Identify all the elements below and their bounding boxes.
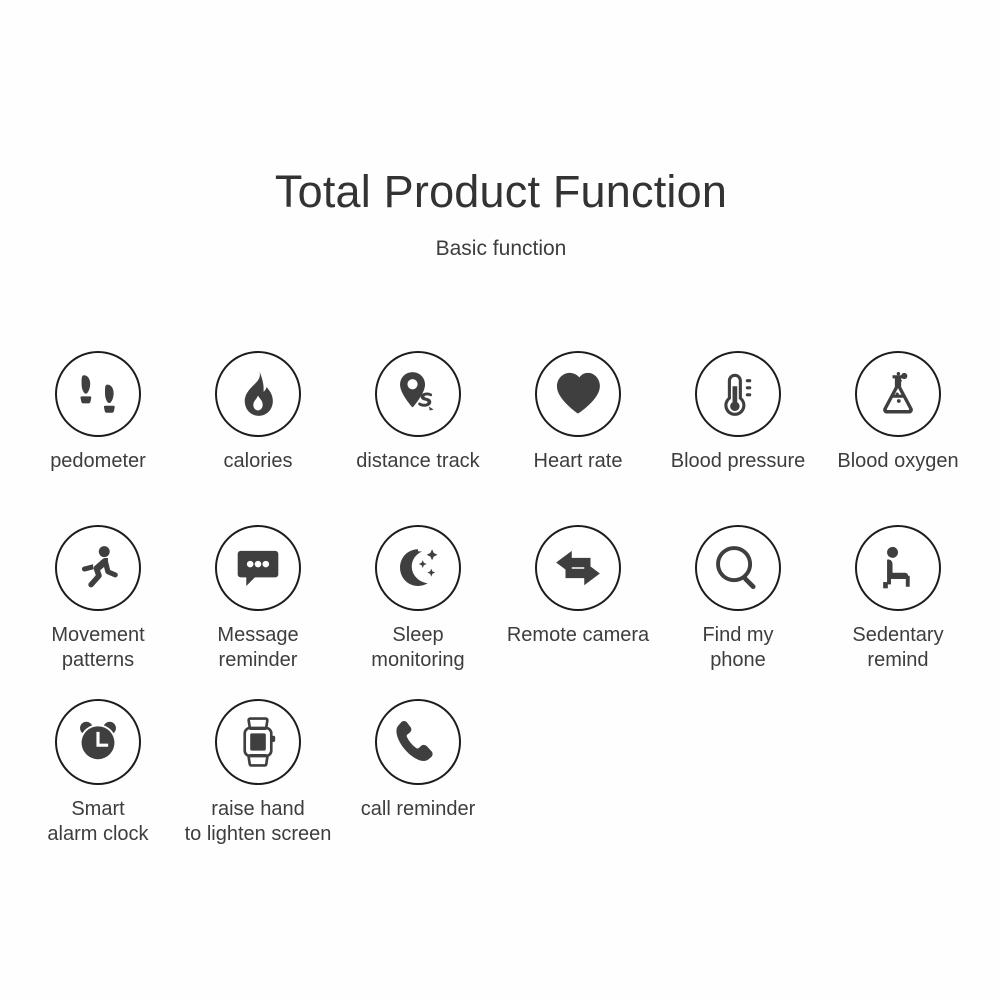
feature-row: Smartalarm clockraise handto lighten scr… (18, 699, 984, 873)
page-subtitle: Basic function (0, 237, 1002, 260)
heart-icon (553, 369, 603, 419)
feature-item[interactable]: Sedentaryremind (818, 525, 978, 673)
feature-label-line: distance track (338, 449, 498, 474)
feature-label: Sleepmonitoring (338, 623, 498, 673)
poster-header: Total Product Function Basic function (0, 168, 1002, 260)
feature-label: Heart rate (498, 449, 658, 474)
feature-icon-circle (215, 525, 301, 611)
feature-icon-circle (375, 351, 461, 437)
flask-bubbles-icon (873, 369, 923, 419)
feature-icon-circle (855, 351, 941, 437)
feature-label-line: Smart (18, 797, 178, 822)
feature-label: Smartalarm clock (18, 797, 178, 847)
moon-stars-icon (393, 543, 443, 593)
feature-icon-circle (55, 525, 141, 611)
feature-item[interactable]: raise handto lighten screen (178, 699, 338, 847)
feature-label-line: calories (178, 449, 338, 474)
feature-label-line: raise hand (178, 797, 338, 822)
feature-label: pedometer (18, 449, 178, 474)
feature-label-line: Sleep (338, 623, 498, 648)
feature-label-line: remind (818, 648, 978, 673)
feature-icon-circle (375, 699, 461, 785)
map-pin-route-icon (393, 369, 443, 419)
feature-icon-circle (695, 525, 781, 611)
speech-bubble-icon (233, 543, 283, 593)
feature-label-line: Find my (658, 623, 818, 648)
double-arrow-icon (553, 543, 603, 593)
feature-icon-circle (855, 525, 941, 611)
feature-label-line: patterns (18, 648, 178, 673)
feature-label-line: Blood oxygen (818, 449, 978, 474)
feature-label: Blood pressure (658, 449, 818, 474)
feature-label: Movementpatterns (18, 623, 178, 673)
feature-label-line: Message (178, 623, 338, 648)
feature-item[interactable]: call reminder (338, 699, 498, 822)
feature-label-line: phone (658, 648, 818, 673)
feature-item[interactable]: Heart rate (498, 351, 658, 474)
feature-label-line: Sedentary (818, 623, 978, 648)
feature-label-line: pedometer (18, 449, 178, 474)
alarm-clock-icon (73, 717, 123, 767)
feature-label-line: Blood pressure (658, 449, 818, 474)
feature-grid: pedometercaloriesdistance trackHeart rat… (18, 351, 984, 873)
magnifier-icon (713, 543, 763, 593)
product-function-poster: Total Product Function Basic function pe… (0, 0, 1002, 1002)
running-person-icon (73, 543, 123, 593)
feature-label-line: monitoring (338, 648, 498, 673)
feature-label: call reminder (338, 797, 498, 822)
feature-label-line: Remote camera (498, 623, 658, 648)
feature-icon-circle (55, 699, 141, 785)
feature-label: calories (178, 449, 338, 474)
feature-label-line: to lighten screen (178, 822, 338, 847)
feature-label: distance track (338, 449, 498, 474)
feature-item[interactable]: Messagereminder (178, 525, 338, 673)
feature-item[interactable]: Smartalarm clock (18, 699, 178, 847)
feature-label-line: alarm clock (18, 822, 178, 847)
feature-item[interactable]: Remote camera (498, 525, 658, 648)
feature-label: Remote camera (498, 623, 658, 648)
flame-icon (233, 369, 283, 419)
feature-item[interactable]: Blood oxygen (818, 351, 978, 474)
feature-label-line: call reminder (338, 797, 498, 822)
phone-handset-icon (393, 717, 443, 767)
feature-item[interactable]: Blood pressure (658, 351, 818, 474)
feature-icon-circle (535, 351, 621, 437)
feature-row: pedometercaloriesdistance trackHeart rat… (18, 351, 984, 525)
feature-label: Find myphone (658, 623, 818, 673)
feature-icon-circle (695, 351, 781, 437)
feature-label-line: reminder (178, 648, 338, 673)
feature-item[interactable]: distance track (338, 351, 498, 474)
feature-icon-circle (375, 525, 461, 611)
feature-label: Messagereminder (178, 623, 338, 673)
seated-person-icon (873, 543, 923, 593)
feature-label: Blood oxygen (818, 449, 978, 474)
feature-icon-circle (215, 351, 301, 437)
feature-icon-circle (215, 699, 301, 785)
feature-row: MovementpatternsMessagereminderSleepmoni… (18, 525, 984, 699)
feature-icon-circle (535, 525, 621, 611)
feature-item[interactable]: Find myphone (658, 525, 818, 673)
page-title: Total Product Function (0, 168, 1002, 215)
feature-label: raise handto lighten screen (178, 797, 338, 847)
feature-item[interactable]: Movementpatterns (18, 525, 178, 673)
feature-item[interactable]: Sleepmonitoring (338, 525, 498, 673)
feature-label-line: Movement (18, 623, 178, 648)
feature-label-line: Heart rate (498, 449, 658, 474)
feature-label: Sedentaryremind (818, 623, 978, 673)
feature-item[interactable]: pedometer (18, 351, 178, 474)
footprints-icon (73, 369, 123, 419)
thermometer-icon (713, 369, 763, 419)
smartwatch-icon (233, 717, 283, 767)
feature-icon-circle (55, 351, 141, 437)
feature-item[interactable]: calories (178, 351, 338, 474)
